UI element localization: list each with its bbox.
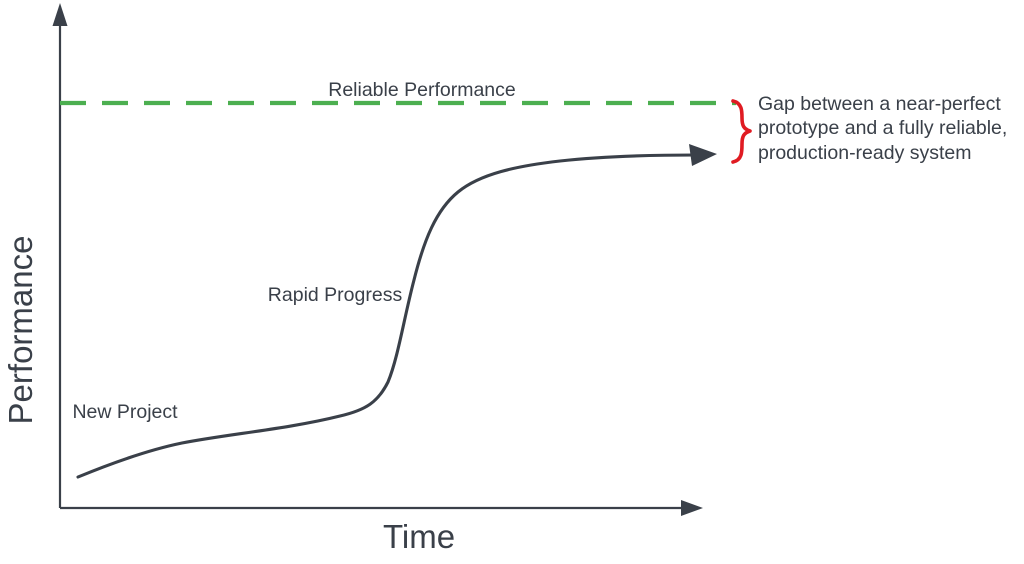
diagram-canvas: Performance Time Reliable Performance Ra…: [0, 0, 1024, 564]
stage-label-rapid-progress: Rapid Progress: [268, 284, 403, 306]
gap-brace-icon: [733, 101, 750, 162]
y-axis-label: Performance: [2, 236, 39, 425]
x-axis-arrowhead: [681, 500, 703, 516]
stage-label-new-project: New Project: [72, 401, 178, 423]
x-axis-label: Time: [383, 518, 455, 555]
gap-annotation-line-3: production-ready system: [758, 142, 972, 164]
reliable-performance-label: Reliable Performance: [328, 79, 516, 101]
performance-curve-arrowhead: [689, 144, 717, 166]
performance-growth-curve: [78, 155, 696, 477]
gap-annotation-line-2: prototype and a fully reliable,: [758, 117, 1007, 139]
gap-annotation-line-1: Gap between a near-perfect: [758, 93, 1001, 115]
performance-time-chart: Performance Time Reliable Performance Ra…: [0, 0, 1024, 564]
y-axis-arrowhead: [53, 3, 68, 26]
